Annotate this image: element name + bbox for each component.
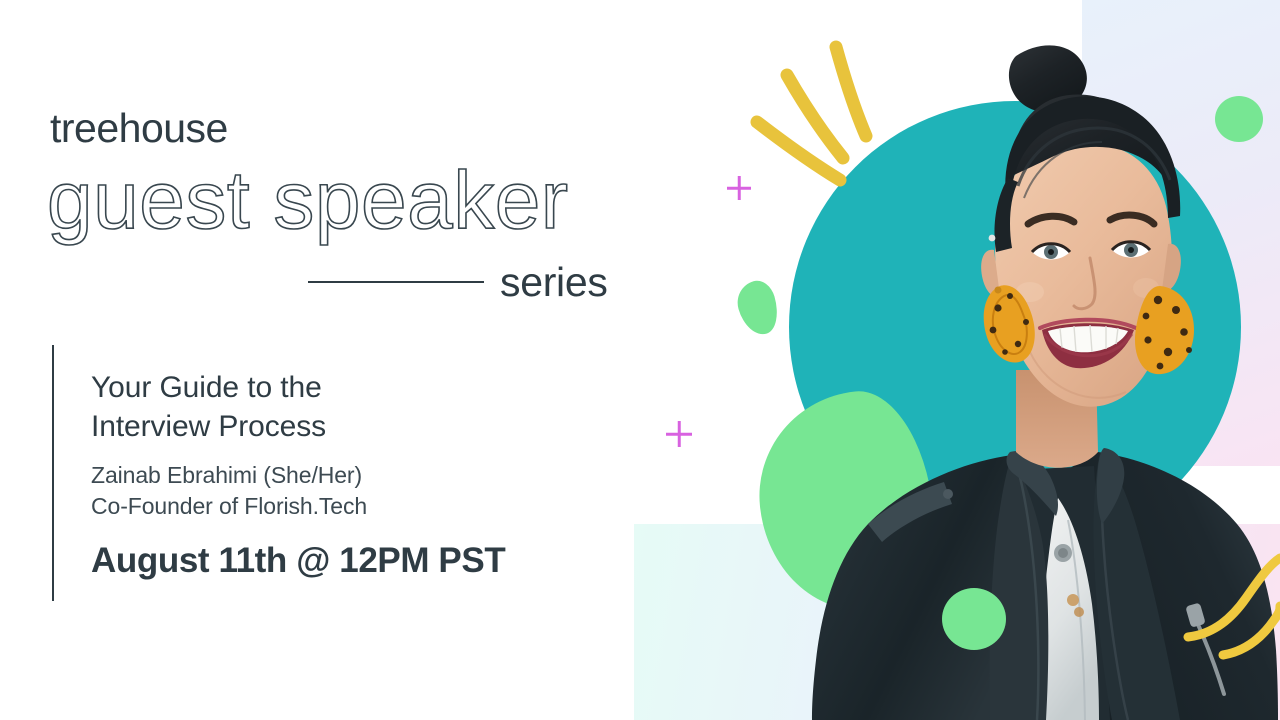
talk-title-line2: Interview Process xyxy=(91,407,611,446)
series-divider-rule xyxy=(308,281,484,283)
event-details: Your Guide to the Interview Process Zain… xyxy=(91,368,611,581)
brand-wordmark: treehouse xyxy=(50,108,228,149)
series-label: series xyxy=(500,262,608,303)
event-datetime: August 11th @ 12PM PST xyxy=(91,542,611,581)
detail-accent-bar xyxy=(52,345,54,601)
speaker-name: Zainab Ebrahimi (She/Her) xyxy=(91,460,611,491)
promo-slide: treehouse guest speaker series Your Guid… xyxy=(0,0,1280,720)
page-title: guest speaker xyxy=(47,160,569,242)
speaker-role: Co-Founder of Florish.Tech xyxy=(91,491,611,522)
series-label-row: series xyxy=(308,258,628,306)
talk-title-line1: Your Guide to the xyxy=(91,368,611,407)
